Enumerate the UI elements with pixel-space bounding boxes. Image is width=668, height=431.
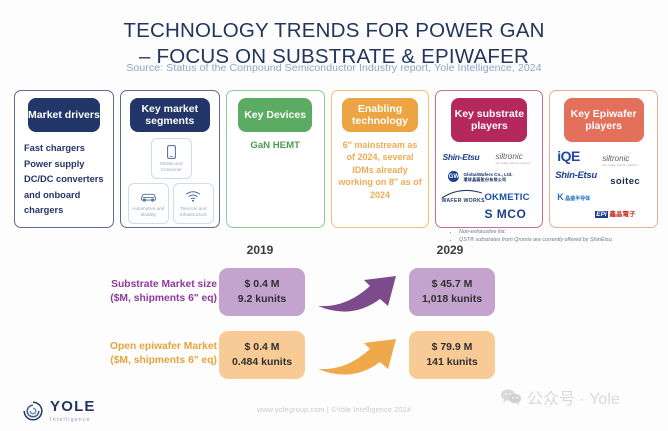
logo-iqe: iQE — [557, 148, 580, 164]
list-item: Power supply — [24, 157, 105, 173]
row-label-open-epiwafer-market: Open epiwafer Market ($M, shipments 6" e… — [32, 340, 217, 367]
infographic-page: TECHNOLOGY TRENDS FOR POWER GAN – FOCUS … — [0, 0, 668, 431]
card-key-devices-title: Key Devices — [238, 98, 312, 132]
value-epiwafer-2029: $ 79.9 M 141 kunits — [409, 331, 495, 379]
card-key-devices: Key Devices GaN HEMT — [226, 90, 325, 228]
logo-simco: S MCO — [484, 207, 526, 221]
logo-subtext: we make silicon wafers — [602, 163, 637, 167]
row-label-line-1: Open epiwafer Market — [32, 340, 217, 354]
logo-subtext: we make silicon wafers — [495, 161, 530, 165]
logo-text: siltronic — [495, 152, 522, 161]
logo-text: Shin-Etsu — [442, 152, 479, 162]
logo-wafer-works: WAFER WORKS — [441, 198, 484, 204]
value-money: $ 0.4 M — [244, 277, 279, 292]
row-label-line-1: Substrate Market size — [32, 278, 217, 292]
logo-text: Shin-Etsu — [555, 170, 597, 181]
logo-globalwafers: GW GlobalWafers Co., Ltd. 環球晶圓股份有限公司 — [448, 171, 532, 185]
logo-subtext: 環球晶圓股份有限公司 — [463, 177, 512, 182]
list-item: Fast chargers — [24, 141, 105, 157]
logo-okmetic: OKMETIC — [484, 192, 529, 203]
logo-text: iQE — [557, 148, 580, 164]
source-line: Source: Status of the Compound Semicondu… — [0, 62, 668, 74]
logo-jingsheng: K 晶盛半导体 — [557, 192, 590, 202]
value-substrate-2029: $ 45.7 M 1,018 kunits — [409, 268, 495, 316]
logo-siltronic: siltronic we make silicon wafers — [602, 154, 637, 167]
card-enabling-technology: Enabling technology 6" mainstream as of … — [331, 90, 430, 228]
market-drivers-list: Fast chargers Power supply DC/DC convert… — [15, 132, 113, 219]
value-units: 141 kunits — [426, 355, 477, 370]
logo-text: S MCO — [484, 207, 526, 221]
card-key-market-segments-title: Key market segments — [130, 98, 210, 132]
logo-mark: K — [557, 192, 564, 202]
card-key-substrate-players: Key substrate players Shin-Etsu siltroni… — [435, 90, 543, 228]
card-key-substrate-players-title: Key substrate players — [451, 98, 527, 142]
car-icon — [140, 189, 157, 204]
segment-label: Automotive and Mobility — [129, 206, 168, 217]
value-money: $ 79.9 M — [432, 340, 473, 355]
logo-soitec: soitec — [610, 176, 640, 187]
segment-tiles: Mobile and Consumer Automotive and Mobil… — [121, 138, 219, 226]
row-label-substrate-market: Substrate Market size ($M, shipments 6" … — [32, 278, 217, 305]
year-header-2029: 2029 — [405, 243, 495, 257]
value-units: 9.2 kunits — [238, 292, 286, 307]
year-header-2019: 2019 — [215, 243, 305, 257]
title-line-1: TECHNOLOGY TRENDS FOR POWER GAN — [123, 19, 544, 42]
logo-text: OKMETIC — [484, 192, 529, 203]
footnote: Non-exhaustive list. QST® substrates fro… — [452, 229, 668, 244]
watermark-text: 公众号 · Yole — [527, 385, 620, 409]
logo-text: 晶盛半导体 — [565, 196, 590, 202]
row-label-line-2: ($M, shipments 6" eq) — [32, 292, 217, 306]
key-devices-text: GaN HEMT — [227, 140, 324, 151]
logo-shin-etsu: Shin-Etsu — [442, 152, 479, 162]
growth-arrow-epiwafer — [316, 333, 408, 379]
logo-epi: EPi 鑫晶電子 — [595, 208, 635, 218]
segment-automotive-mobility: Automotive and Mobility — [128, 183, 169, 224]
card-market-drivers: Market drivers Fast chargers Power suppl… — [14, 90, 114, 228]
card-market-drivers-title: Market drivers — [28, 98, 100, 132]
logo-text: siltronic — [602, 154, 629, 163]
card-key-epiwafer-players: Key Epiwafer players iQE siltronic we ma… — [549, 90, 658, 228]
enabling-technology-text: 6" mainstream as of 2024, several IDMs a… — [332, 139, 429, 201]
growth-arrow-substrate — [316, 270, 408, 316]
logo-mark: EPi — [595, 211, 607, 218]
wifi-icon — [185, 189, 201, 204]
segment-telecom-infrastructure: Telecom and Infrastructure — [173, 183, 214, 224]
card-key-epiwafer-players-title: Key Epiwafer players — [564, 98, 644, 142]
value-substrate-2019: $ 0.4 M 9.2 kunits — [219, 268, 305, 316]
list-item: DC/DC converters — [24, 172, 105, 188]
logo-shin-etsu: Shin-Etsu — [555, 170, 597, 181]
value-units: 1,018 kunits — [422, 292, 482, 307]
yole-tagline: Intelligence — [50, 417, 96, 423]
value-money: $ 45.7 M — [432, 277, 473, 292]
segment-label: Telecom and Infrastructure — [174, 206, 213, 217]
logo-mark: GW — [448, 171, 459, 182]
value-units: 0.484 kunits — [232, 355, 292, 370]
wechat-icon — [500, 389, 522, 405]
segment-label: Mobile and Consumer — [152, 161, 191, 172]
list-item: chargers — [24, 203, 105, 219]
card-enabling-technology-title: Enabling technology — [342, 98, 418, 132]
year-headers: 2019 2029 — [0, 243, 668, 259]
substrate-logo-group: Shin-Etsu siltronic we make silicon wafe… — [436, 146, 542, 226]
epiwafer-logo-group: iQE siltronic we make silicon wafers Shi… — [550, 146, 657, 226]
cards-row: Market drivers Fast chargers Power suppl… — [14, 90, 658, 228]
logo-siltronic: siltronic we make silicon wafers — [495, 152, 530, 165]
footnote-item: Non-exhaustive list. — [459, 229, 668, 237]
value-money: $ 0.4 M — [244, 340, 279, 355]
card-key-market-segments: Key market segments Mobile and Consumer … — [120, 90, 220, 228]
segment-mobile-consumer: Mobile and Consumer — [151, 138, 192, 179]
wechat-watermark: 公众号 · Yole — [500, 385, 620, 409]
row-label-line-2: ($M, shipments 6" eq) — [32, 354, 217, 368]
mobile-phone-icon — [167, 144, 176, 159]
logo-text: soitec — [610, 176, 640, 187]
value-epiwafer-2019: $ 0.4 M 0.484 kunits — [219, 331, 305, 379]
logo-text: 鑫晶電子 — [610, 211, 636, 218]
list-item: and onboard — [24, 188, 105, 204]
